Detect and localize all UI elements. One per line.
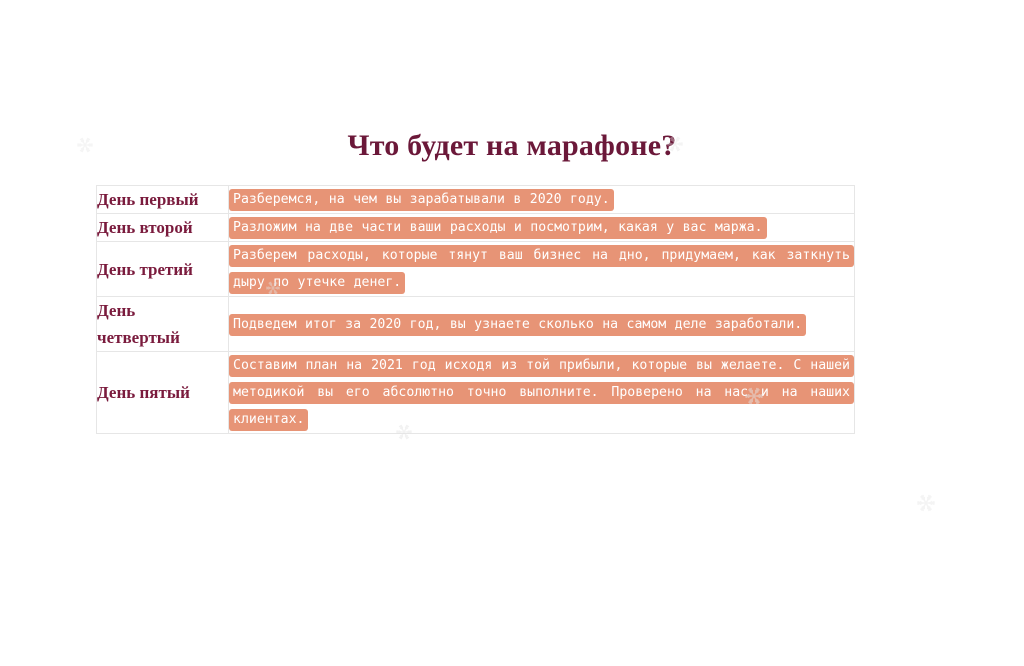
description-cell: Разберемся, на чем вы зарабатывали в 202… <box>229 186 855 214</box>
description-cell: Разберем расходы, которые тянут ваш бизн… <box>229 242 855 297</box>
description-text: Разберем расходы, которые тянут ваш бизн… <box>229 242 854 296</box>
highlighted-description: Подведем итог за 2020 год, вы узнаете ск… <box>229 314 806 336</box>
table-row: День третий Разберем расходы, которые тя… <box>97 242 855 297</box>
slide-canvas: Что будет на марафоне? День первый Разбе… <box>0 0 1024 666</box>
highlighted-description: Разложим на две части ваши расходы и пос… <box>229 217 767 239</box>
table-row: День четвертый Подведем итог за 2020 год… <box>97 297 855 352</box>
marathon-program-table: День первый Разберемся, на чем вы зараба… <box>96 185 855 434</box>
day-cell: День пятый <box>97 352 229 434</box>
highlighted-description: Составим план на 2021 год исходя из той … <box>229 355 854 431</box>
page-title: Что будет на марафоне? <box>0 128 1024 164</box>
day-label: День третий <box>97 256 201 283</box>
day-cell: День первый <box>97 186 229 214</box>
description-cell: Разложим на две части ваши расходы и пос… <box>229 214 855 242</box>
description-text: Подведем итог за 2020 год, вы узнаете ск… <box>229 311 854 338</box>
day-label: День четвертый <box>97 297 201 351</box>
description-text: Составим план на 2021 год исходя из той … <box>229 352 854 433</box>
day-label: День второй <box>97 214 201 241</box>
day-cell: День третий <box>97 242 229 297</box>
description-cell: Подведем итог за 2020 год, вы узнаете ск… <box>229 297 855 352</box>
description-cell: Составим план на 2021 год исходя из той … <box>229 352 855 434</box>
description-text: Разложим на две части ваши расходы и пос… <box>229 214 854 241</box>
snowflake-icon-right-lower <box>917 494 935 512</box>
day-cell: День четвертый <box>97 297 229 352</box>
table-body: День первый Разберемся, на чем вы зараба… <box>97 186 855 434</box>
table-row: День второй Разложим на две части ваши р… <box>97 214 855 242</box>
highlighted-description: Разберем расходы, которые тянут ваш бизн… <box>229 245 854 294</box>
table-row: День пятый Составим план на 2021 год исх… <box>97 352 855 434</box>
day-label: День пятый <box>97 379 201 406</box>
day-cell: День второй <box>97 214 229 242</box>
description-text: Разберемся, на чем вы зарабатывали в 202… <box>229 186 854 213</box>
highlighted-description: Разберемся, на чем вы зарабатывали в 202… <box>229 189 614 211</box>
table-row: День первый Разберемся, на чем вы зараба… <box>97 186 855 214</box>
day-label: День первый <box>97 186 201 213</box>
